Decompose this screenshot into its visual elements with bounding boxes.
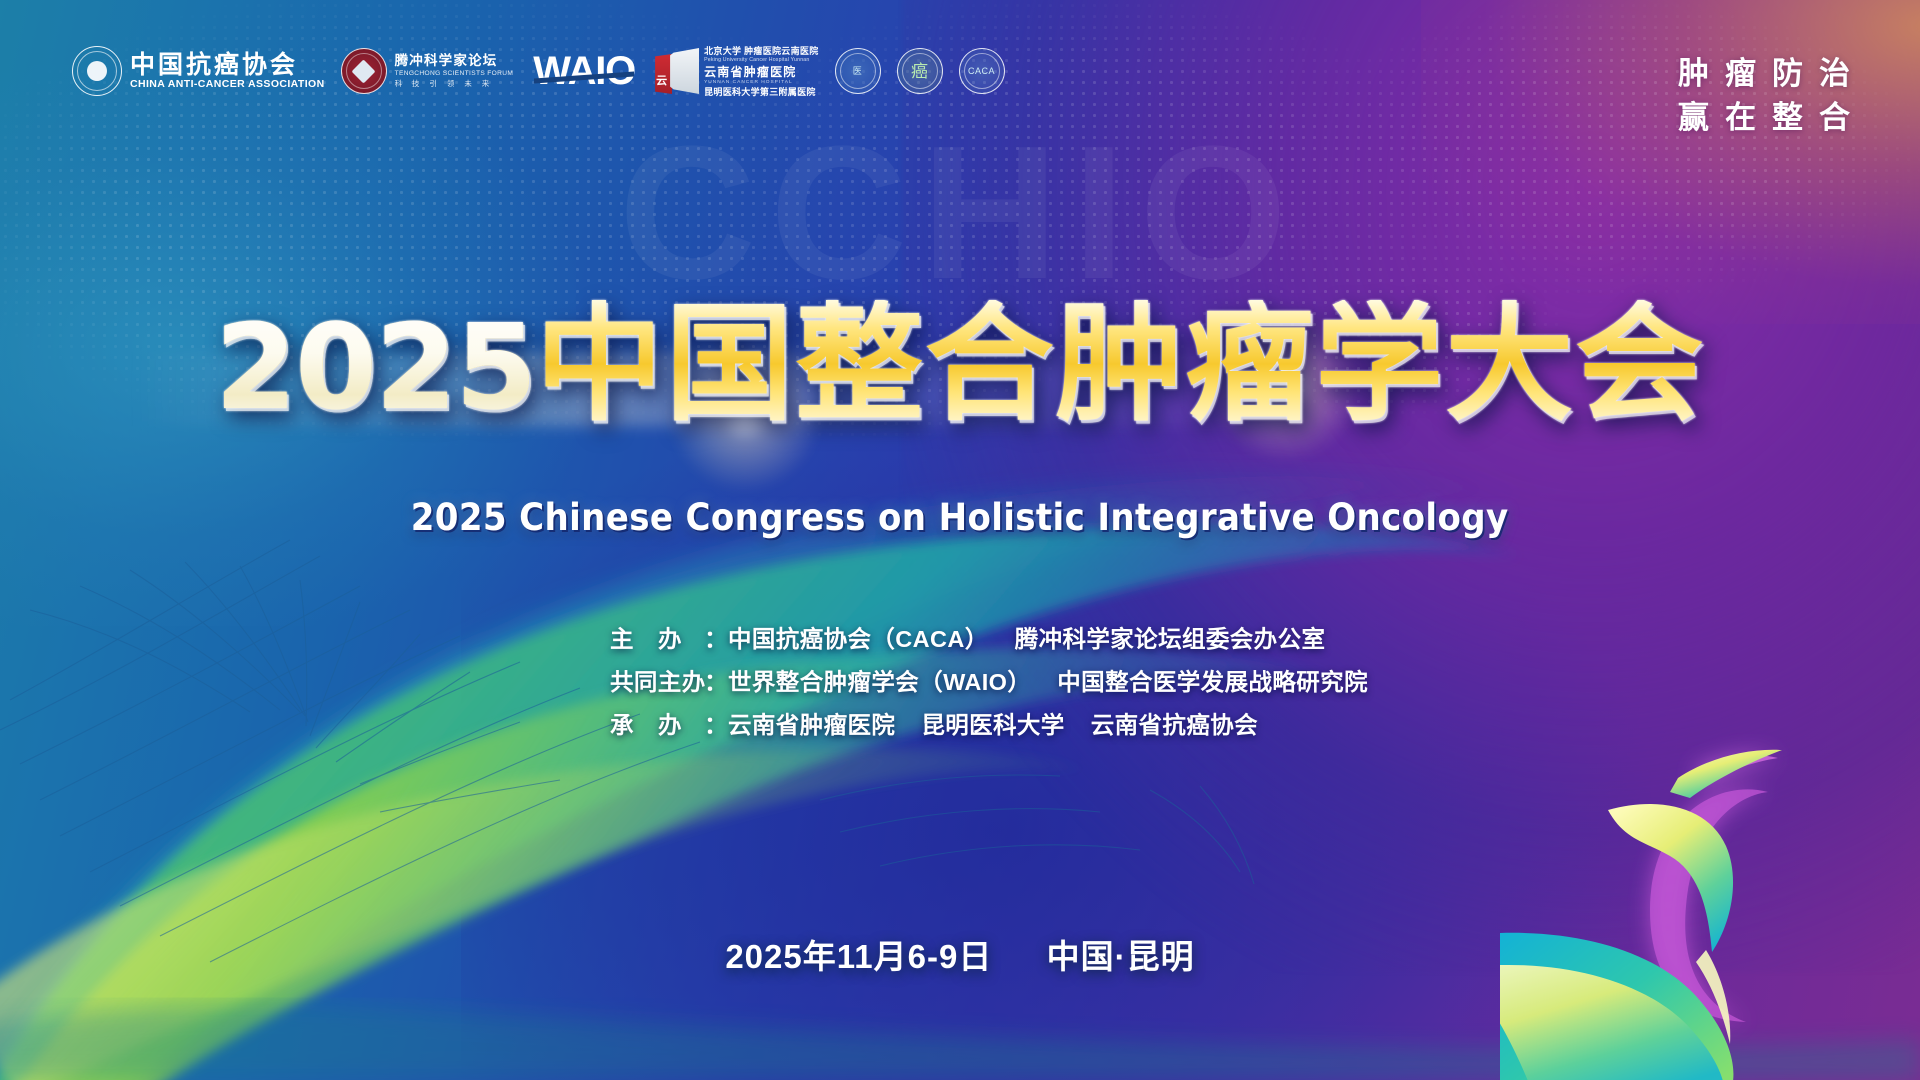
organizer-label: 共同主办 ： [610, 663, 728, 697]
main-title: 2025中国整合肿瘤学大会 [215, 300, 1705, 428]
event-location: 中国·昆明 [1047, 938, 1195, 975]
subtitle-en: 2025 Chinese Congress on Holistic Integr… [411, 496, 1509, 539]
tcsf-name-en: TENGCHONG SCIENTISTS FORUM [395, 70, 514, 79]
slogan-line-1: 肿瘤防治 [1662, 52, 1866, 96]
organizer-label-b: 办 [658, 706, 682, 740]
ynch-line1: 北京大学 肿瘤医院云南医院 [704, 44, 818, 57]
slogan: 肿瘤防治 赢在整合 [1662, 52, 1866, 140]
organizer-colon: ： [704, 663, 728, 697]
main-title-cn: 中国整合肿瘤学大会 [535, 289, 1705, 439]
organizer-label-a: 共同主办 [610, 663, 706, 697]
organizers-block: 主 办 ： 中国抗癌协会（CACA） 腾冲科学家论坛组委会办公室 共同主办 ： … [0, 620, 1920, 740]
organizer-row: 共同主办 ： 世界整合肿瘤学会（WAIO） 中国整合医学发展战略研究院 [610, 663, 1310, 697]
tcsf-tagline: 科 技 引 领 未 来 [395, 79, 514, 89]
ynch-line3: 昆明医科大学第三附属医院 [704, 85, 818, 98]
organizer-colon: ： [704, 706, 728, 740]
red-globe-seal-icon [341, 48, 387, 94]
organizer-value: 世界整合肿瘤学会（WAIO） [728, 663, 1031, 697]
red-door-icon: 云 [655, 48, 699, 94]
organizer-values: 中国抗癌协会（CACA） 腾冲科学家论坛组委会办公室 [728, 620, 1325, 654]
organizer-row: 承 办 ： 云南省肿瘤医院 昆明医科大学 云南省抗癌协会 [610, 706, 1310, 740]
main-title-year: 2025 [215, 298, 535, 436]
event-date: 2025年11月6-9日 [725, 938, 992, 975]
organizer-value: 昆明医科大学 [921, 706, 1064, 740]
teal-seal-mark: CACA [968, 67, 995, 76]
organizer-label: 主 办 ： [610, 620, 728, 654]
caca-name-cn: 中国抗癌协会 [130, 52, 325, 78]
caca-name-en: CHINA ANTI-CANCER ASSOCIATION [130, 78, 325, 91]
logo-china-anti-cancer-association: 中国抗癌协会 CHINA ANTI-CANCER ASSOCIATION [72, 46, 325, 96]
organizer-row: 主 办 ： 中国抗癌协会（CACA） 腾冲科学家论坛组委会办公室 [610, 620, 1310, 654]
waio-wordmark-icon: WAIO [529, 51, 639, 91]
organizer-value: 云南省抗癌协会 [1091, 706, 1258, 740]
organizer-value: 中国抗癌协会（CACA） [728, 620, 989, 654]
organizer-label: 承 办 ： [610, 706, 728, 740]
organizer-label-a: 主 [610, 620, 634, 654]
organizer-value: 腾冲科学家论坛组委会办公室 [1015, 620, 1326, 654]
subtitle: 2025 Chinese Congress on Holistic Integr… [0, 496, 1920, 539]
tcsf-name-cn: 腾冲科学家论坛 [395, 53, 514, 70]
logo-yunnan-cancer-hospital: 云 北京大学 肿瘤医院云南医院 Peking University Cancer… [655, 44, 818, 98]
green-seal-mark: 癌 [911, 63, 928, 80]
organizer-label-b: 办 [658, 620, 682, 654]
organizer-values: 云南省肿瘤医院 昆明医科大学 云南省抗癌协会 [728, 706, 1258, 740]
slogan-line-2: 赢在整合 [1662, 96, 1866, 140]
conference-poster: CCHIO [0, 0, 1920, 1080]
teal-seal-icon: CACA [959, 48, 1005, 94]
crab-seal-icon [72, 46, 122, 96]
logo-tengchong-scientists-forum: 腾冲科学家论坛 TENGCHONG SCIENTISTS FORUM 科 技 引… [341, 48, 514, 94]
organizer-values: 世界整合肿瘤学会（WAIO） 中国整合医学发展战略研究院 [728, 663, 1368, 697]
green-seal-icon: 癌 [897, 48, 943, 94]
organizer-value: 云南省肿瘤医院 [728, 706, 895, 740]
organizer-label-a: 承 [610, 706, 634, 740]
university-seal-mark: 医 [853, 67, 863, 76]
logo-bar: 中国抗癌协会 CHINA ANTI-CANCER ASSOCIATION 腾冲科… [72, 44, 1005, 98]
event-date-location: 2025年11月6-9日 中国·昆明 [0, 930, 1920, 978]
organizer-value: 中国整合医学发展战略研究院 [1057, 663, 1368, 697]
university-seal-icon: 医 [835, 48, 881, 94]
organizer-colon: ： [704, 620, 728, 654]
silk-ribbon-decoration [0, 0, 1920, 1080]
page-title: 2025中国整合肿瘤学大会 [0, 300, 1920, 428]
ynch-line2: 云南省肿瘤医院 [704, 63, 818, 80]
